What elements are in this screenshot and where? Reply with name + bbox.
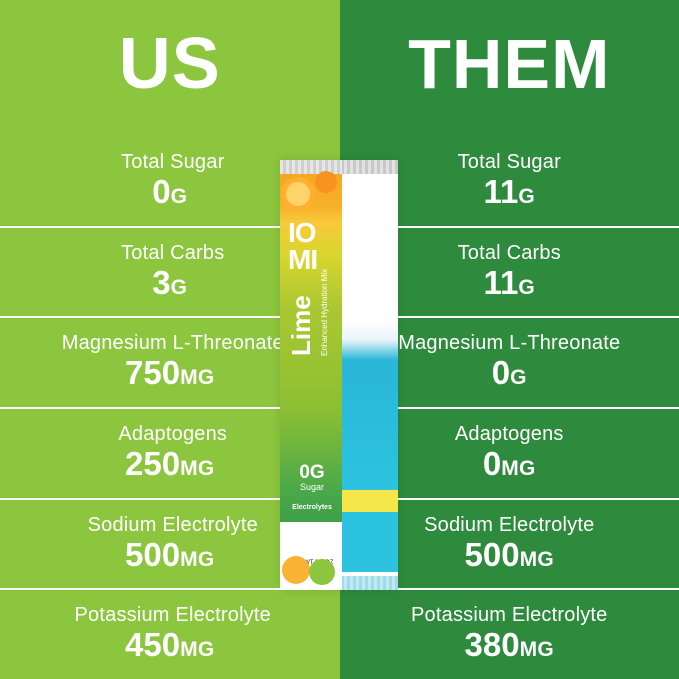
row-number: 380	[465, 626, 520, 663]
comparison-infographic: US Total Sugar 0G Total Carbs 3G Magnesi…	[0, 0, 679, 679]
row-number: 450	[125, 626, 180, 663]
us-row-potassium-electrolyte: Potassium Electrolyte 450MG	[0, 588, 340, 679]
row-unit: MG	[180, 366, 214, 389]
row-number: 11	[483, 264, 518, 301]
row-number: 750	[125, 354, 180, 391]
brand-sachet: IO MI Lime Enhanced Hydration Mix 0G Sug…	[280, 160, 342, 590]
row-value: 450MG	[125, 628, 215, 663]
lime-slice-icon	[280, 548, 342, 588]
row-label: Adaptogens	[455, 423, 564, 445]
us-column-title: US	[0, 0, 340, 135]
row-label: Magnesium L-Threonate	[398, 332, 620, 354]
row-label: Sodium Electrolyte	[424, 514, 594, 536]
row-value: 11G	[483, 175, 535, 210]
sachet-bottom-notch	[338, 576, 398, 590]
row-label: Total Carbs	[115, 242, 224, 264]
row-value: 500MG	[125, 538, 215, 573]
row-unit: MG	[180, 638, 214, 661]
row-number: 250	[125, 445, 180, 482]
row-number: 0	[152, 173, 170, 210]
row-unit: MG	[501, 457, 535, 480]
row-unit: MG	[520, 638, 554, 661]
row-unit: G	[518, 276, 535, 299]
row-number: 500	[465, 536, 520, 573]
packet-vertical-label: Enhanced Hydration Mix	[320, 269, 329, 356]
them-column-title: THEM	[340, 0, 679, 135]
row-number: 3	[152, 264, 170, 301]
row-unit: G	[171, 276, 188, 299]
row-unit: G	[518, 185, 535, 208]
row-label: Magnesium L-Threonate	[56, 332, 284, 354]
row-label: Potassium Electrolyte	[411, 604, 608, 626]
brand-logo-line2: MI	[288, 247, 317, 274]
row-number: 500	[125, 536, 180, 573]
row-value: 0G	[492, 356, 527, 391]
row-value: 380MG	[465, 628, 555, 663]
row-value: 500MG	[465, 538, 555, 573]
them-row-potassium-electrolyte: Potassium Electrolyte 380MG	[340, 588, 679, 679]
brand-logo: IO MI	[288, 220, 317, 273]
row-value: 0G	[152, 175, 187, 210]
row-number: 11	[483, 173, 518, 210]
row-value: 250MG	[125, 447, 215, 482]
row-unit: G	[171, 185, 188, 208]
row-value: 11G	[483, 266, 535, 301]
packet-claim-electrolytes: Electrolytes	[286, 504, 338, 511]
packet-flavor-name: Lime	[286, 295, 317, 356]
row-value: 0MG	[483, 447, 536, 482]
row-unit: G	[510, 366, 527, 389]
row-unit: MG	[180, 548, 214, 571]
product-packet-image: IO MI Lime Enhanced Hydration Mix 0G Sug…	[280, 160, 398, 590]
row-value: 750MG	[125, 356, 215, 391]
row-label: Total Carbs	[458, 242, 561, 264]
packet-claim-magnesium: Magnesium +Adaptogens	[286, 528, 338, 542]
row-value: 3G	[152, 266, 187, 301]
sachet-top-notch	[338, 160, 398, 174]
row-label: Potassium Electrolyte	[69, 604, 272, 626]
row-unit: MG	[180, 457, 214, 480]
row-label: Total Sugar	[458, 151, 561, 173]
row-number: 0	[483, 445, 501, 482]
row-label: Total Sugar	[115, 151, 224, 173]
row-label: Adaptogens	[112, 423, 227, 445]
row-unit: MG	[520, 548, 554, 571]
brand-logo-line1: IO	[288, 220, 317, 247]
row-label: Sodium Electrolyte	[82, 514, 258, 536]
row-number: 0	[492, 354, 510, 391]
packet-claim-zero: 0G	[286, 462, 338, 484]
competitor-sachet	[338, 160, 398, 590]
packet-claim-sugar: Sugar	[286, 482, 338, 492]
